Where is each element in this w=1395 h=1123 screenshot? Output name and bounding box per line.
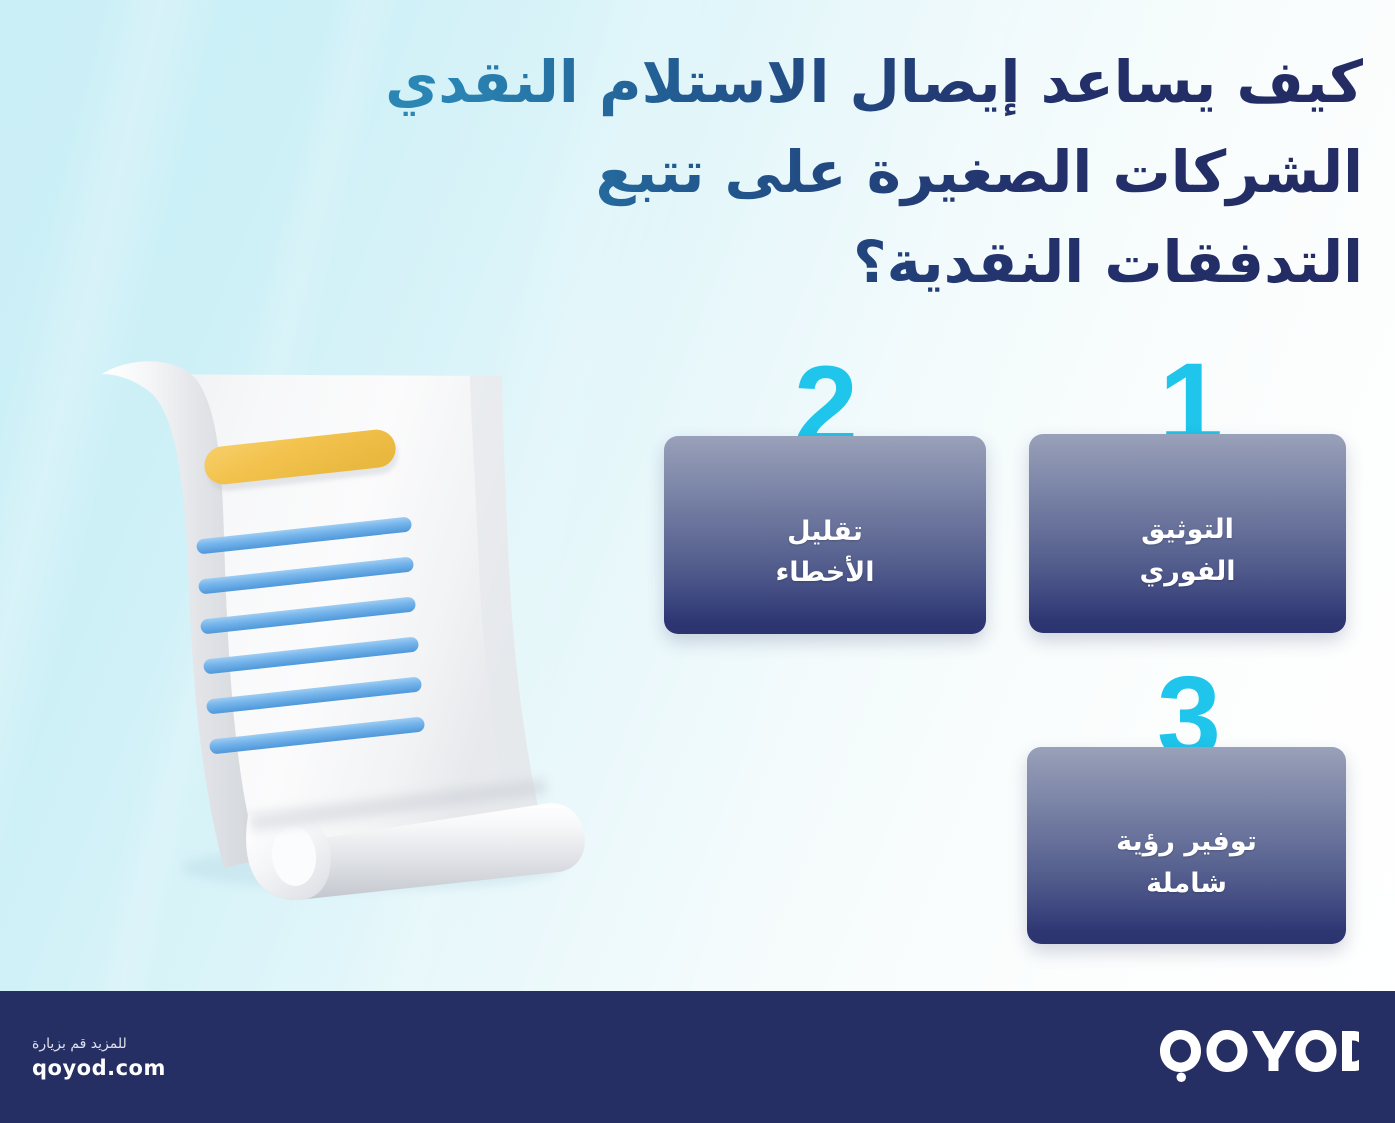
page-title-line-1: كيف يساعد إيصال الاستلام النقدي <box>255 38 1363 128</box>
qoyod-logo <box>1159 1027 1359 1085</box>
benefit-card-1-label-line-2: الفوري <box>1139 551 1235 592</box>
benefit-card-3-label: توفير رؤية شاملة <box>1116 787 1257 903</box>
page-title: كيف يساعد إيصال الاستلام النقدي الشركات … <box>255 38 1363 308</box>
benefit-card-2-label-line-2: الأخطاء <box>775 552 874 593</box>
footer-more-label: للمزيد قم بزيارة <box>32 1034 166 1055</box>
benefit-card-2[interactable]: تقليل الأخطاء <box>664 436 986 634</box>
logo-letter-d <box>1342 1031 1359 1071</box>
page-title-line-3: التدفقات النقدية؟ <box>255 218 1363 308</box>
infographic-canvas: كيف يساعد إيصال الاستلام النقدي الشركات … <box>0 0 1395 1123</box>
benefit-card-2-label: تقليل الأخطاء <box>775 477 874 593</box>
footer-bar: للمزيد قم بزيارة qoyod.com <box>0 991 1395 1123</box>
logo-letter-q <box>1160 1030 1201 1082</box>
benefit-card-3[interactable]: توفير رؤية شاملة <box>1027 747 1346 944</box>
benefit-card-2-label-line-1: تقليل <box>775 511 874 552</box>
footer-cta: للمزيد قم بزيارة qoyod.com <box>32 1034 166 1082</box>
logo-letter-y <box>1252 1031 1295 1071</box>
benefit-card-3-label-line-2: شاملة <box>1116 863 1257 904</box>
benefit-card-1-label: التوثيق الفوري <box>1139 475 1235 591</box>
benefit-card-1-label-line-1: التوثيق <box>1139 509 1235 550</box>
benefit-card-3-label-line-1: توفير رؤية <box>1116 821 1257 862</box>
logo-letter-o-2 <box>1296 1030 1337 1072</box>
page-title-line-2: الشركات الصغيرة على تتبع <box>255 128 1363 218</box>
cash-receipt-illustration <box>72 348 612 908</box>
footer-domain-link[interactable]: qoyod.com <box>32 1055 166 1082</box>
logo-letter-o-1 <box>1207 1030 1248 1072</box>
benefit-card-1[interactable]: التوثيق الفوري <box>1029 434 1346 633</box>
